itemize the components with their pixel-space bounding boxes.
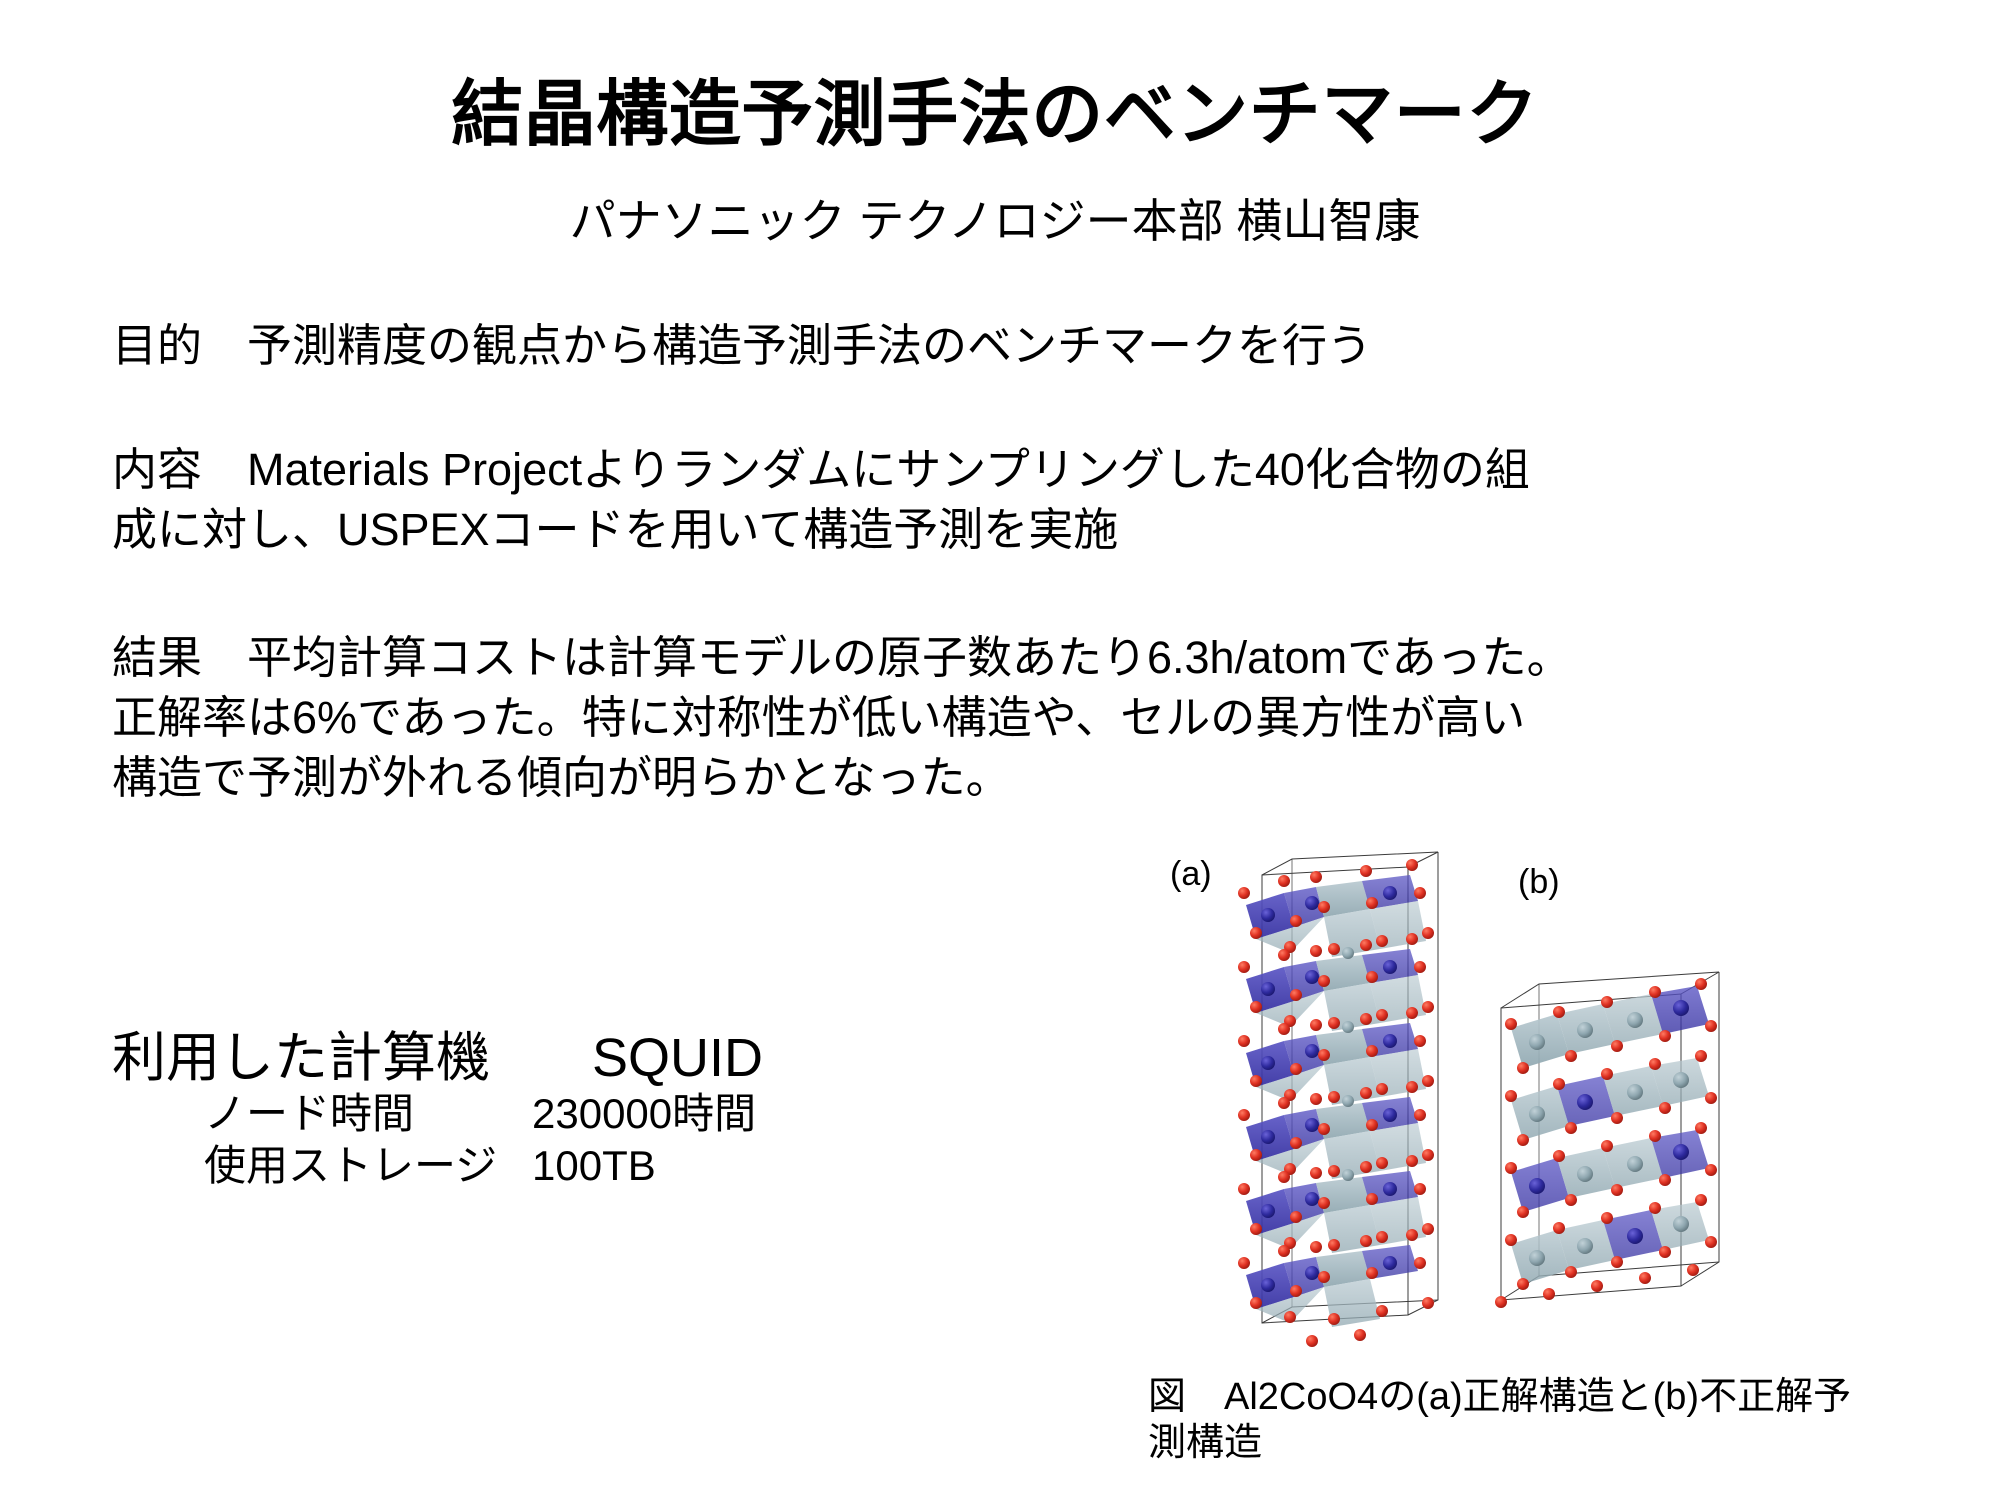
figure-caption-line-1: 図 Al2CoO4の(a)正解構造と(b)不正解予: [1148, 1374, 1908, 1420]
crystal-structure-a-image: [1220, 845, 1470, 1355]
node-hours-value: 230000時間: [532, 1088, 756, 1139]
page-subtitle: パナソニック テクノロジー本部 横山智康: [0, 196, 1990, 247]
machine-heading-label: 利用した計算機: [112, 1028, 592, 1088]
section-purpose: 目的 予測精度の観点から構造予測手法のベンチマークを行う: [112, 316, 1812, 376]
contents-line-2: 成に対し、USPEXコードを用いて構造予測を実施: [112, 500, 1722, 560]
section-results: 結果 平均計算コストは計算モデルの原子数あたり6.3h/atomであった。 正解…: [112, 628, 1732, 808]
machine-row-storage: 使用ストレージ 100TB: [112, 1140, 1052, 1191]
machine-usage-block: 利用した計算機 SQUID ノード時間 230000時間 使用ストレージ 100…: [112, 1028, 1052, 1191]
figure-caption: 図 Al2CoO4の(a)正解構造と(b)不正解予 測構造: [1148, 1374, 1908, 1467]
results-line-1: 結果 平均計算コストは計算モデルの原子数あたり6.3h/atomであった。: [112, 628, 1732, 688]
storage-value: 100TB: [532, 1140, 656, 1191]
figure-crystal-structures: (a) (b): [1110, 845, 1940, 1445]
storage-label: 使用ストレージ: [112, 1140, 532, 1191]
machine-heading-row: 利用した計算機 SQUID: [112, 1028, 1052, 1088]
purpose-line-1: 目的 予測精度の観点から構造予測手法のベンチマークを行う: [112, 316, 1812, 376]
results-line-2: 正解率は6%であった。特に対称性が低い構造や、セルの異方性が高い: [112, 688, 1732, 748]
panel-b-label: (b): [1518, 863, 1560, 902]
slide-canvas: 結晶構造予測手法のベンチマーク パナソニック テクノロジー本部 横山智康 目的 …: [0, 0, 1990, 1500]
figure-caption-line-2: 測構造: [1148, 1420, 1908, 1466]
contents-line-1: 内容 Materials Projectよりランダムにサンプリングした40化合物…: [112, 440, 1722, 500]
crystal-structure-b-image: [1465, 950, 1775, 1340]
section-contents: 内容 Materials Projectよりランダムにサンプリングした40化合物…: [112, 440, 1722, 560]
results-line-3: 構造で予測が外れる傾向が明らかとなった。: [112, 748, 1732, 808]
machine-heading-value: SQUID: [592, 1028, 763, 1088]
panel-a-label: (a): [1170, 855, 1212, 894]
node-hours-label: ノード時間: [112, 1088, 532, 1139]
machine-row-node-hours: ノード時間 230000時間: [112, 1088, 1052, 1139]
page-title: 結晶構造予測手法のベンチマーク: [0, 78, 1990, 154]
